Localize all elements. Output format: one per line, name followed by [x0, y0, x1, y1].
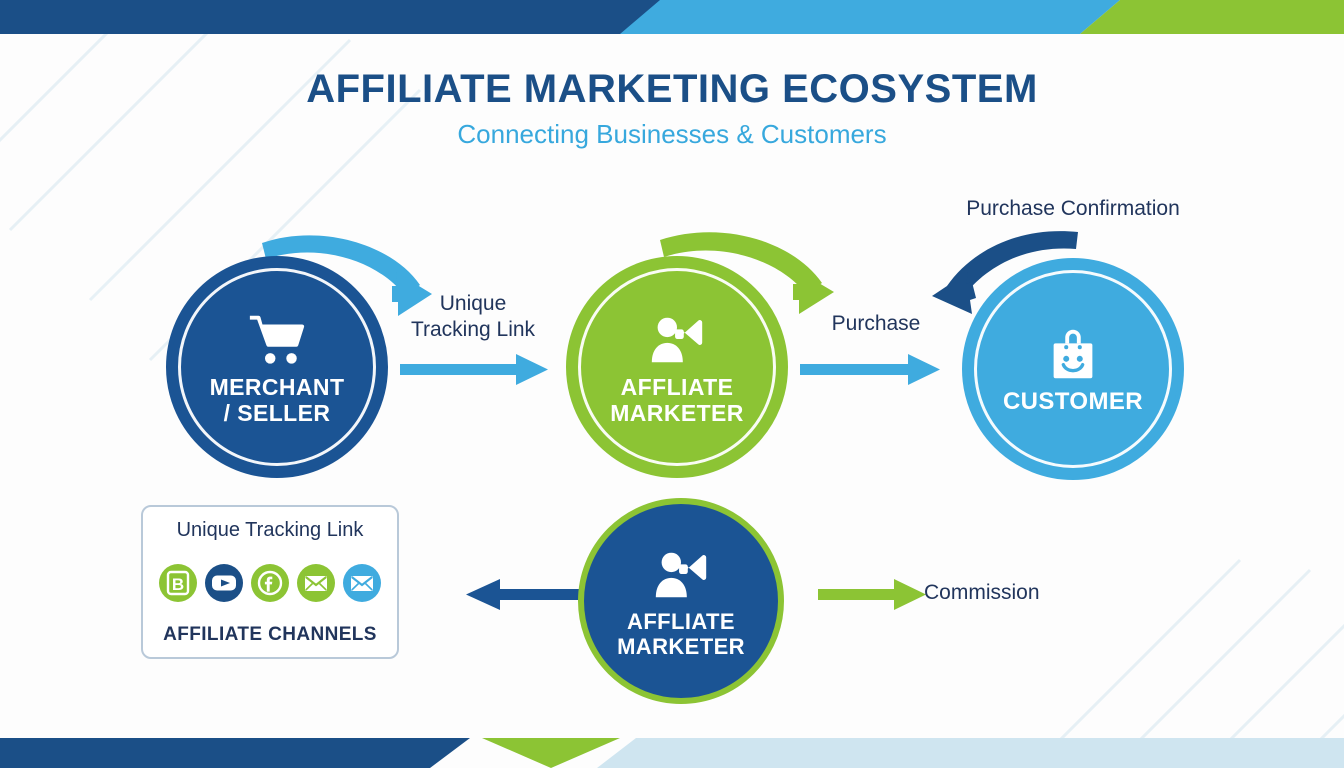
node-affiliate-marketer-top[interactable]: AFFLIATE MARKETER — [566, 256, 788, 478]
top-band-blue — [620, 0, 1120, 34]
page-subtitle: Connecting Businesses & Customers — [0, 120, 1344, 149]
email-green-icon[interactable] — [297, 564, 335, 602]
node-label: AFFLIATE MARKETER — [602, 374, 752, 427]
node-affiliate-marketer-bottom[interactable]: AFFLIATE MARKETER — [578, 498, 784, 704]
arrow-commission — [818, 579, 926, 610]
svg-text:B: B — [172, 575, 184, 594]
youtube-icon[interactable] — [205, 564, 243, 602]
connector-label-purchase-confirmation: Purchase Confirmation — [948, 196, 1198, 222]
channels-card-footer: AFFILIATE CHANNELS — [163, 624, 377, 646]
node-merchant-seller[interactable]: MERCHANT / SELLER — [166, 256, 388, 478]
blog-icon[interactable]: B — [159, 564, 197, 602]
bottom-band-green — [482, 738, 620, 768]
shopping-cart-icon — [246, 308, 308, 370]
page-title: AFFILIATE MARKETING ECOSYSTEM — [0, 68, 1344, 110]
megaphone-person-icon — [650, 543, 712, 605]
shopping-bag-smile-icon — [1042, 322, 1104, 384]
megaphone-person-icon — [646, 308, 708, 370]
node-label: MERCHANT / SELLER — [202, 374, 353, 427]
infographic-canvas: AFFILIATE MARKETING ECOSYSTEM Connecting… — [0, 0, 1344, 768]
arrow-tracking-link — [400, 354, 548, 385]
top-band-green — [1080, 0, 1344, 34]
bottom-band-navy — [0, 738, 470, 768]
node-customer[interactable]: CUSTOMER — [962, 258, 1184, 480]
facebook-icon[interactable] — [251, 564, 289, 602]
email-blue-icon[interactable] — [343, 564, 381, 602]
channels-card-title: Unique Tracking Link — [177, 519, 364, 541]
connector-label-tracking-link: Unique Tracking Link — [399, 291, 547, 342]
arrow-back-to-channels — [466, 579, 580, 610]
bottom-band-paleblue — [597, 738, 1344, 768]
channel-icon-row: B — [159, 564, 381, 602]
node-label: AFFLIATE MARKETER — [609, 609, 753, 660]
top-band-navy — [0, 0, 700, 34]
connector-label-commission: Commission — [924, 580, 1104, 606]
arrow-purchase — [800, 354, 940, 385]
node-label: CUSTOMER — [995, 388, 1151, 416]
header: AFFILIATE MARKETING ECOSYSTEM Connecting… — [0, 68, 1344, 149]
connector-label-purchase: Purchase — [816, 311, 936, 337]
affiliate-channels-card[interactable]: Unique Tracking Link B — [141, 505, 399, 659]
